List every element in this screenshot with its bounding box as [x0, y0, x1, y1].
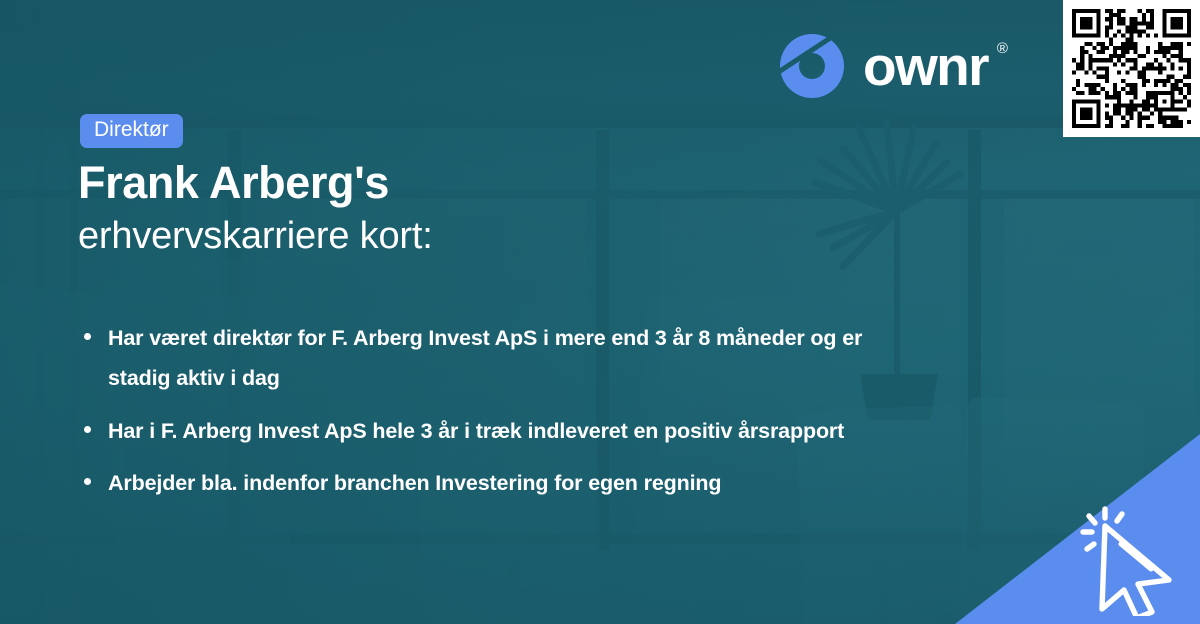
list-item-text: Arbejder bla. indenfor branchen Invester… — [108, 471, 721, 495]
role-badge: Direktør — [80, 114, 183, 148]
bullet-dot-icon — [84, 426, 91, 433]
ownr-logo[interactable]: ownr® — [778, 32, 991, 100]
registered-trademark-icon: ® — [997, 41, 1008, 56]
ownr-circular-logo-mark — [778, 32, 846, 100]
list-item: Har i F. Arberg Invest ApS hele 3 år i t… — [82, 411, 882, 451]
ownr-wordmark: ownr® — [863, 39, 991, 94]
bullet-dot-icon — [84, 333, 91, 340]
qr-code[interactable] — [1063, 0, 1200, 137]
list-item-text: Har i F. Arberg Invest ApS hele 3 år i t… — [108, 419, 844, 443]
bullet-dot-icon — [84, 478, 91, 485]
card-content: Direktør Frank Arberg's erhvervskarriere… — [0, 0, 1200, 624]
promo-card: Direktør Frank Arberg's erhvervskarriere… — [0, 0, 1200, 624]
click-cursor-icon — [1068, 496, 1188, 616]
ownr-wordmark-text: ownr — [863, 35, 988, 97]
list-item-text: Har været direktør for F. Arberg Invest … — [108, 326, 862, 390]
page-title: Frank Arberg's erhvervskarriere kort: — [78, 158, 778, 259]
list-item: Arbejder bla. indenfor branchen Invester… — [82, 463, 882, 503]
list-item: Har været direktør for F. Arberg Invest … — [82, 318, 882, 399]
headline-name: Frank Arberg's — [78, 158, 778, 209]
career-bullet-list: Har været direktør for F. Arberg Invest … — [82, 318, 882, 504]
headline-subtitle: erhvervskarriere kort: — [78, 213, 778, 259]
qr-code-canvas — [1072, 9, 1191, 128]
